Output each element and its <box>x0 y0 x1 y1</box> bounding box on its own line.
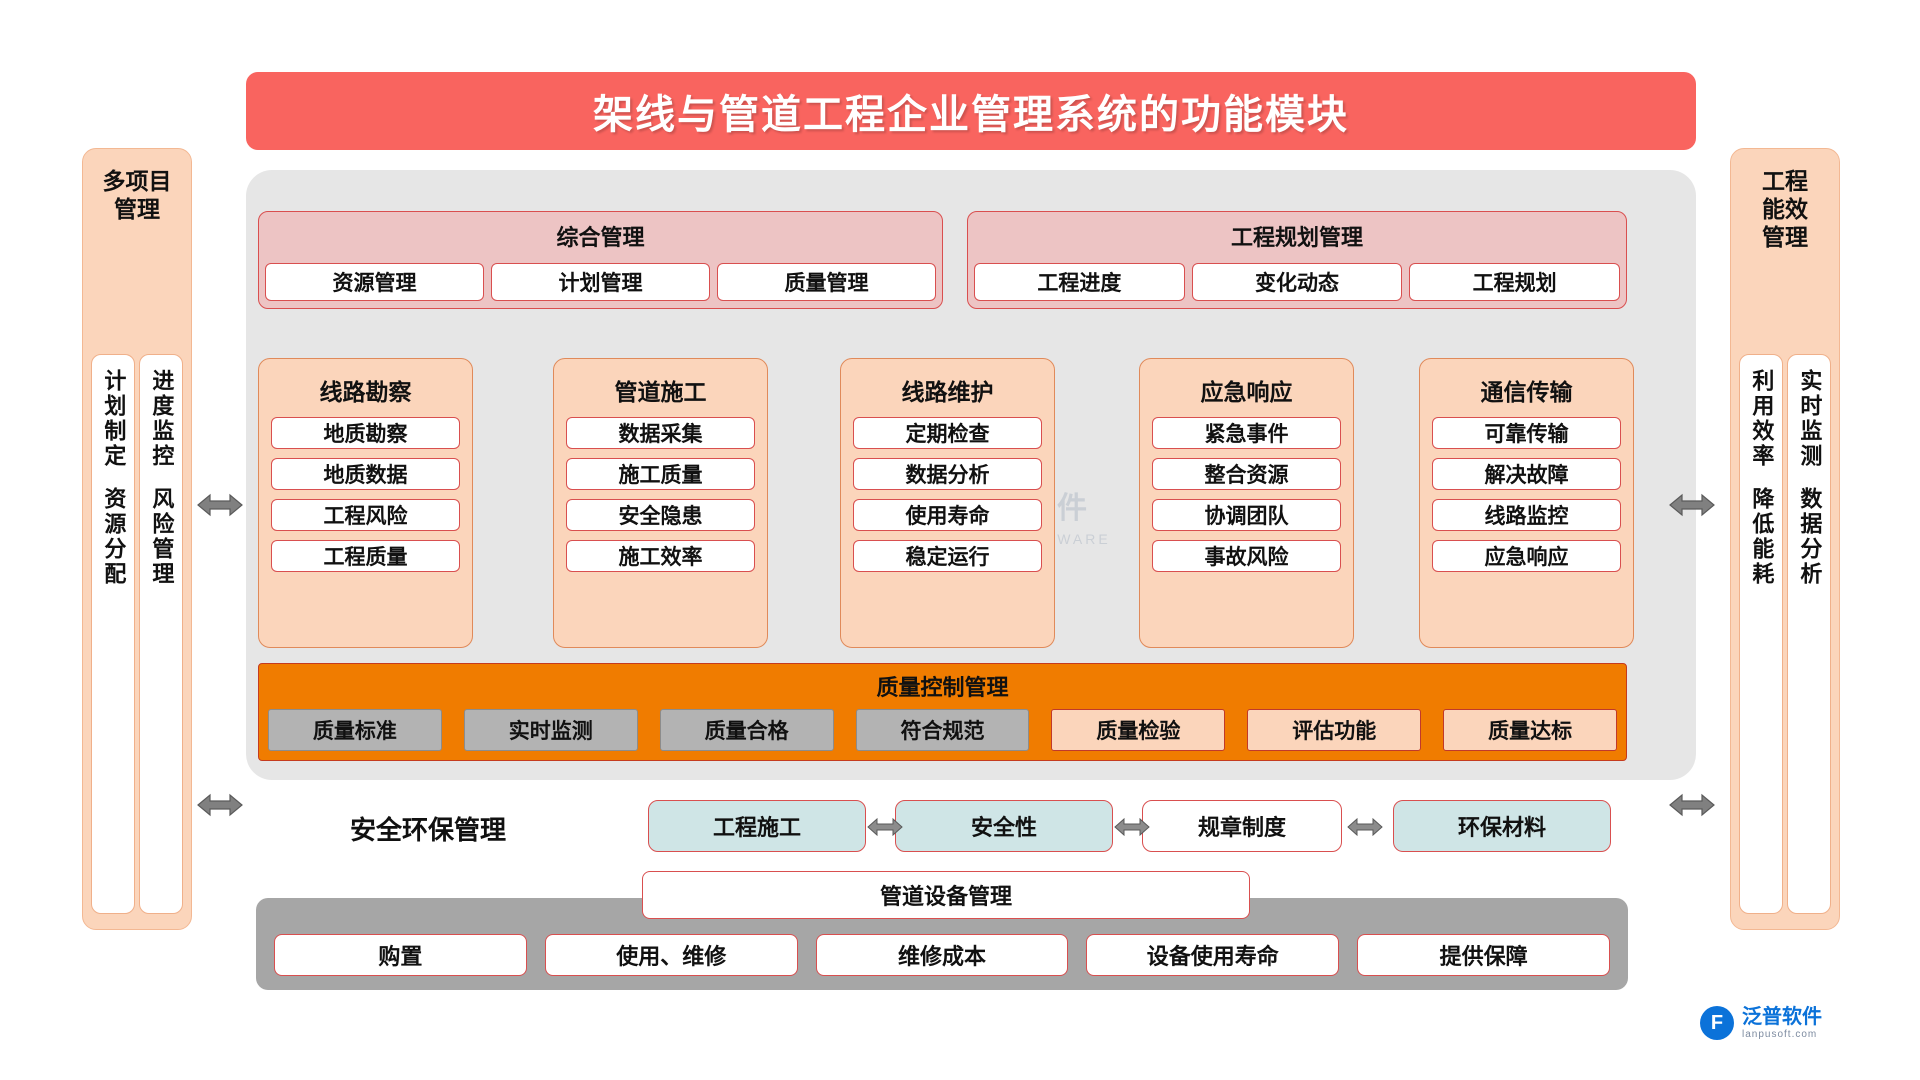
chip-c1-i4[interactable]: 工程质量 <box>271 540 460 572</box>
left-sidebar-column-1[interactable]: 计划制定 资源分配 <box>91 354 135 914</box>
chip-c3-i1[interactable]: 定期检查 <box>853 417 1042 449</box>
chip-c4-i4[interactable]: 事故风险 <box>1152 540 1341 572</box>
chip-engineering-progress[interactable]: 工程进度 <box>974 263 1185 301</box>
chip-c2-i3[interactable]: 安全隐患 <box>566 499 755 531</box>
quality-control-items: 质量标准 实时监测 质量合格 符合规范 质量检验 评估功能 质量达标 <box>268 709 1617 751</box>
right-col2-name: 实时监测 <box>1797 369 1822 469</box>
arrow-left-lower-icon <box>196 792 244 818</box>
chip-c1-i2[interactable]: 地质数据 <box>271 458 460 490</box>
safety-item-regulations[interactable]: 规章制度 <box>1142 800 1342 852</box>
qchip-qualified[interactable]: 质量合格 <box>660 709 834 751</box>
chip-c1-i3[interactable]: 工程风险 <box>271 499 460 531</box>
right-col1-name: 利用效率 <box>1749 369 1774 469</box>
column-5-items: 可靠传输 解决故障 线路监控 应急响应 <box>1432 417 1621 572</box>
quality-control-title: 质量控制管理 <box>259 670 1626 702</box>
right-col2-sub: 数据分析 <box>1797 487 1822 587</box>
chip-c2-i1[interactable]: 数据采集 <box>566 417 755 449</box>
qchip-standard[interactable]: 质量标准 <box>268 709 442 751</box>
brand-logo-icon: F <box>1700 1006 1734 1040</box>
qchip-realtime[interactable]: 实时监测 <box>464 709 638 751</box>
page-title: 架线与管道工程企业管理系统的功能模块 <box>593 82 1349 140</box>
left-col1-sub: 资源分配 <box>101 487 126 587</box>
chip-c5-i3[interactable]: 线路监控 <box>1432 499 1621 531</box>
safety-item-safety[interactable]: 安全性 <box>895 800 1113 852</box>
qchip-evaluation[interactable]: 评估功能 <box>1247 709 1421 751</box>
chip-c4-i2[interactable]: 整合资源 <box>1152 458 1341 490</box>
group-planning-items: 工程进度 变化动态 工程规划 <box>974 263 1620 301</box>
left-col2-sub: 风险管理 <box>149 487 174 587</box>
arrow-left-upper-icon <box>196 492 244 518</box>
safety-environment-label: 安全环保管理 <box>350 810 506 847</box>
page-title-bar: 架线与管道工程企业管理系统的功能模块 <box>246 72 1696 150</box>
arrow-right-upper-icon <box>1668 492 1716 518</box>
diagram-root: 架线与管道工程企业管理系统的功能模块 多项目 管理 计划制定 资源分配 进度监控… <box>0 0 1920 1080</box>
column-1-items: 地质勘察 地质数据 工程风险 工程质量 <box>271 417 460 572</box>
brand-logo-text: 泛普软件 lanpusoft.com <box>1742 1006 1822 1040</box>
chip-change-dynamics[interactable]: 变化动态 <box>1192 263 1403 301</box>
chip-c4-i3[interactable]: 协调团队 <box>1152 499 1341 531</box>
left-sidebar[interactable]: 多项目 管理 计划制定 资源分配 进度监控 风险管理 <box>82 148 192 930</box>
chip-c1-i1[interactable]: 地质勘察 <box>271 417 460 449</box>
chip-c5-i1[interactable]: 可靠传输 <box>1432 417 1621 449</box>
group-comprehensive-management[interactable]: 综合管理 资源管理 计划管理 质量管理 <box>258 211 943 309</box>
equipment-items: 购置 使用、维修 维修成本 设备使用寿命 提供保障 <box>274 934 1610 976</box>
column-2-items: 数据采集 施工质量 安全隐患 施工效率 <box>566 417 755 572</box>
column-pipeline-construction[interactable]: 管道施工 数据采集 施工质量 安全隐患 施工效率 <box>553 358 768 648</box>
eq-chip-guarantee[interactable]: 提供保障 <box>1357 934 1610 976</box>
left-sidebar-column-2[interactable]: 进度监控 风险管理 <box>139 354 183 914</box>
qchip-attained[interactable]: 质量达标 <box>1443 709 1617 751</box>
group-comprehensive-items: 资源管理 计划管理 质量管理 <box>265 263 936 301</box>
eq-chip-service-life[interactable]: 设备使用寿命 <box>1086 934 1339 976</box>
column-line-survey[interactable]: 线路勘察 地质勘察 地质数据 工程风险 工程质量 <box>258 358 473 648</box>
chip-c4-i1[interactable]: 紧急事件 <box>1152 417 1341 449</box>
qchip-compliant[interactable]: 符合规范 <box>856 709 1030 751</box>
safety-item-construction[interactable]: 工程施工 <box>648 800 866 852</box>
column-line-maintenance[interactable]: 线路维护 定期检查 数据分析 使用寿命 稳定运行 <box>840 358 1055 648</box>
chip-c3-i4[interactable]: 稳定运行 <box>853 540 1042 572</box>
column-4-items: 紧急事件 整合资源 协调团队 事故风险 <box>1152 417 1341 572</box>
brand-logo: F 泛普软件 lanpusoft.com <box>1700 1006 1822 1040</box>
brand-url: lanpusoft.com <box>1742 1029 1822 1040</box>
arrow-right-lower-icon <box>1668 792 1716 818</box>
chip-c5-i2[interactable]: 解决故障 <box>1432 458 1621 490</box>
chip-c5-i4[interactable]: 应急响应 <box>1432 540 1621 572</box>
column-4-title: 应急响应 <box>1140 373 1353 407</box>
column-3-title: 线路维护 <box>841 373 1054 407</box>
qchip-inspection[interactable]: 质量检验 <box>1051 709 1225 751</box>
right-sidebar-column-2[interactable]: 实时监测 数据分析 <box>1787 354 1831 914</box>
column-communication-transmission[interactable]: 通信传输 可靠传输 解决故障 线路监控 应急响应 <box>1419 358 1634 648</box>
equipment-header[interactable]: 管道设备管理 <box>642 871 1250 919</box>
group-planning-title: 工程规划管理 <box>968 220 1626 252</box>
column-2-title: 管道施工 <box>554 373 767 407</box>
arrow-safety-1 <box>866 815 904 839</box>
eq-chip-use-repair[interactable]: 使用、维修 <box>545 934 798 976</box>
column-5-title: 通信传输 <box>1420 373 1633 407</box>
arrow-safety-2 <box>1113 815 1151 839</box>
safety-item-eco-material[interactable]: 环保材料 <box>1393 800 1611 852</box>
left-col1-name: 计划制定 <box>101 369 126 469</box>
brand-name: 泛普软件 <box>1742 1006 1822 1028</box>
chip-quality-management[interactable]: 质量管理 <box>717 263 936 301</box>
left-sidebar-title: 多项目 管理 <box>83 167 191 223</box>
chip-plan-management[interactable]: 计划管理 <box>491 263 710 301</box>
right-sidebar-title: 工程 能效 管理 <box>1731 167 1839 251</box>
chip-c3-i2[interactable]: 数据分析 <box>853 458 1042 490</box>
right-col1-sub: 降低能耗 <box>1749 487 1774 587</box>
chip-engineering-planning[interactable]: 工程规划 <box>1409 263 1620 301</box>
column-3-items: 定期检查 数据分析 使用寿命 稳定运行 <box>853 417 1042 572</box>
column-emergency-response[interactable]: 应急响应 紧急事件 整合资源 协调团队 事故风险 <box>1139 358 1354 648</box>
left-col2-name: 进度监控 <box>149 369 174 469</box>
eq-chip-purchase[interactable]: 购置 <box>274 934 527 976</box>
quality-control-band[interactable]: 质量控制管理 质量标准 实时监测 质量合格 符合规范 质量检验 评估功能 质量达… <box>258 663 1627 761</box>
chip-c2-i2[interactable]: 施工质量 <box>566 458 755 490</box>
eq-chip-repair-cost[interactable]: 维修成本 <box>816 934 1069 976</box>
group-comprehensive-title: 综合管理 <box>259 220 942 252</box>
column-1-title: 线路勘察 <box>259 373 472 407</box>
right-sidebar[interactable]: 工程 能效 管理 利用效率 降低能耗 实时监测 数据分析 <box>1730 148 1840 930</box>
chip-c3-i3[interactable]: 使用寿命 <box>853 499 1042 531</box>
chip-resource-management[interactable]: 资源管理 <box>265 263 484 301</box>
right-sidebar-column-1[interactable]: 利用效率 降低能耗 <box>1739 354 1783 914</box>
group-engineering-planning[interactable]: 工程规划管理 工程进度 变化动态 工程规划 <box>967 211 1627 309</box>
arrow-safety-3 <box>1346 815 1384 839</box>
chip-c2-i4[interactable]: 施工效率 <box>566 540 755 572</box>
